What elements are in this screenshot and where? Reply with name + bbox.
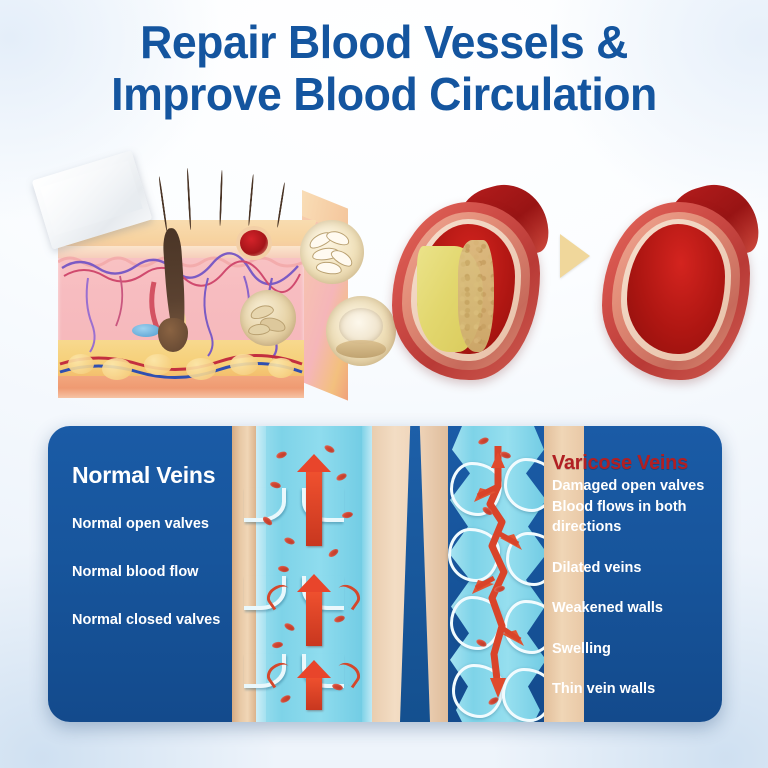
fat-lobule	[268, 358, 294, 378]
page-title-line-2: Improve Blood Circulation	[12, 68, 757, 120]
varicose-veins-item-4: Dilated veins	[552, 559, 716, 578]
fat-lobule	[144, 354, 172, 375]
fat-lobule	[102, 358, 132, 380]
normal-veins-item-2: Normal blood flow	[72, 563, 232, 581]
fat-lobule	[186, 358, 216, 380]
healthy-artery	[602, 188, 752, 383]
skin-cross-section-figure	[44, 168, 374, 408]
varicose-veins-heading: Varicose Veins	[552, 452, 716, 475]
page-title: Repair Blood Vessels & Improve Blood Cir…	[0, 16, 768, 120]
varicose-veins-item-7: Thin vein walls	[552, 680, 716, 699]
herbal-seed-inset	[300, 220, 364, 284]
sweat-gland	[132, 324, 160, 337]
blood-flow-arrow-up	[306, 676, 322, 710]
plaque-granular-edge	[458, 240, 494, 352]
vein-illustration-band	[232, 426, 584, 722]
fat-lobule	[68, 354, 94, 374]
page-title-line-1: Repair Blood Vessels &	[12, 16, 757, 68]
varicose-veins-item-1: Damaged open valves	[552, 477, 716, 496]
vein-comparison-panel: Normal Veins Normal open valves Normal b…	[48, 426, 722, 722]
varicose-veins-item-6: Swelling	[552, 640, 716, 659]
normal-veins-text-block: Normal Veins Normal open valves Normal b…	[72, 462, 232, 659]
hair-shaft	[248, 174, 255, 226]
varicose-veins-item-2: Blood flows in both	[552, 498, 716, 517]
hair-shaft	[219, 170, 223, 226]
blood-flow-arrow-up	[306, 590, 322, 646]
normal-veins-heading: Normal Veins	[72, 462, 232, 489]
blood-flow-arrow-up	[306, 470, 322, 546]
normal-veins-item-3: Normal closed valves	[72, 611, 232, 629]
skin-lesion	[240, 230, 268, 256]
infographic-poster: Repair Blood Vessels & Improve Blood Cir…	[0, 0, 768, 768]
herbal-ingredient-inset	[240, 290, 296, 346]
fat-lobule	[230, 354, 258, 375]
artery-comparison-figure	[392, 182, 752, 394]
varicose-veins-item-3: directions	[552, 518, 716, 537]
herbal-slice-inset	[326, 296, 396, 366]
varicose-veins-text-block: Varicose Veins Damaged open valves Blood…	[552, 452, 716, 701]
varicose-veins-item-5: Weakened walls	[552, 599, 716, 618]
clogged-artery	[392, 188, 542, 383]
triangle-right-arrow-icon	[560, 234, 590, 278]
varicose-backflow-arrows	[448, 426, 548, 722]
normal-veins-item-1: Normal open valves	[72, 515, 232, 533]
